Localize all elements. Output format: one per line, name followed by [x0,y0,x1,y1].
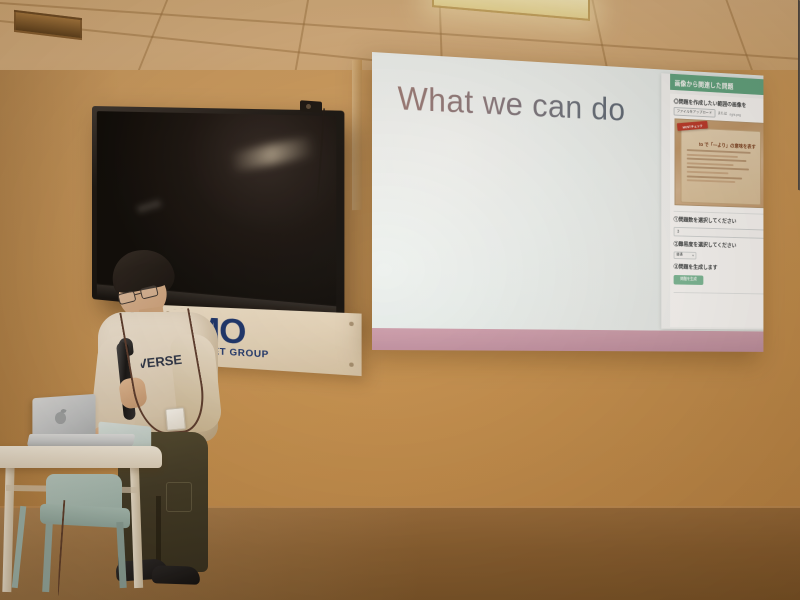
upload-or-text: または [718,111,727,116]
upload-file-button[interactable]: ファイルをアップロード [674,107,715,118]
tv-camera-lens-icon [306,104,311,109]
table-surface [0,446,162,468]
textbook-text-lines [687,149,756,186]
tv-glare-secondary [136,200,161,213]
app-header-bar: 画像から関連した問題 [670,74,763,96]
apple-logo-icon [55,412,66,424]
chevron-down-icon: ▾ [692,253,693,257]
id-badge [165,407,186,431]
cargo-pocket [166,482,192,512]
upload-filename-hint: right.png [730,112,741,116]
difficulty-value: 普通 [676,252,682,257]
presentation-room-photo: MO RNET GROUP What we can do 画像から関連した問題 … [0,0,800,600]
projection-screen: What we can do 画像から関連した問題 ◎問題を作成したい範囲の画像… [372,52,763,352]
question-count-label: ①問題数を選択してください [670,211,763,227]
tv-camera-icon [300,100,322,113]
app-body: ◎問題を作成したい範囲の画像を ファイルをアップロード または right.pn… [670,94,763,328]
tv-glare-highlight [229,136,316,172]
textbook-page: to で「—より」の意味を表す [681,127,761,205]
difficulty-label: ②難易度を選択してください [670,236,763,252]
slide-title: What we can do [398,79,626,128]
app-header-title: 画像から関連した問題 [670,77,733,90]
right-shoe [152,565,201,585]
uploaded-photo-preview[interactable]: to で「—より」の意味を表す MUSTチェック [675,118,764,208]
bottom-divider [674,292,764,294]
generate-questions-button[interactable]: 問題を生成 [674,275,704,285]
presenter: VERSE [70,250,250,600]
generate-label: ③問題を生成します [670,258,763,273]
textbook-heading: to で「—より」の意味を表す [699,141,756,150]
app-screenshot: 画像から関連した問題 ◎問題を作成したい範囲の画像を ファイルをアップロード ま… [661,73,763,330]
slide-bottom-band [372,328,763,352]
wall-corner-edge [352,60,362,211]
